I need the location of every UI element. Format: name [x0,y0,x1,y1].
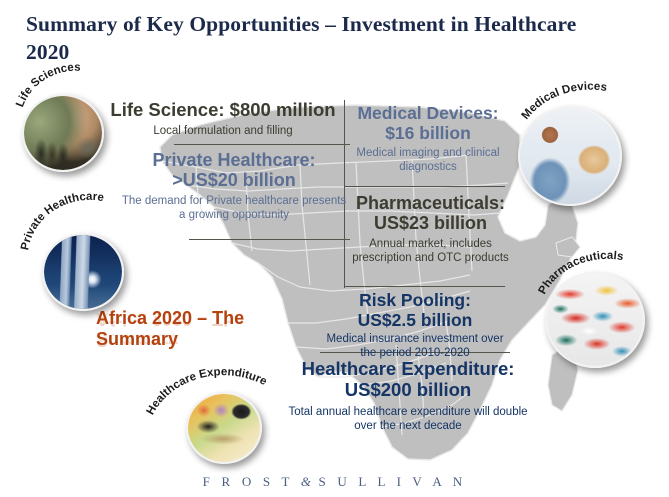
block-pharmaceuticals-heading-line2: US$23 billion [343,213,518,233]
block-medical-devices-heading-line1: Medical Devices: [343,104,513,124]
block-private-healthcare: Private Healthcare: >US$20 billion The d… [118,150,350,222]
private-healthcare-photo-detail [44,235,122,309]
block-medical-devices-subtext: Medical imaging and clinical diagnostics [343,147,513,174]
block-life-science-heading: Life Science: $800 million [96,100,350,121]
block-medical-devices-heading-line2: $16 billion [343,124,513,144]
block-risk-pooling-subtext: Medical insurance investment over the pe… [318,333,512,360]
block-life-science-subtext: Local formulation and filling [96,125,350,139]
divider-private-healthcare [189,239,350,240]
footer-brand: F R O S T & S U L L I V A N [0,474,669,490]
block-private-healthcare-subtext: The demand for Private healthcare presen… [118,195,350,222]
footer-frost: F R O S T [203,474,294,489]
africa-summary-line1: Africa 2020 – The [96,308,286,329]
africa-summary-line2: Summary [96,329,286,350]
pharmaceuticals-photo[interactable] [545,272,645,368]
medical-devices-photo[interactable] [518,106,622,206]
block-risk-pooling: Risk Pooling: US$2.5 billion Medical ins… [318,291,512,360]
medical-devices-photo-detail [520,108,620,204]
divider-pharmaceuticals [345,286,505,287]
block-life-science: Life Science: $800 million Local formula… [96,100,350,138]
block-healthcare-expenditure: Healthcare Expenditure: US$200 billion T… [283,359,533,434]
block-healthcare-expenditure-heading-line2: US$200 billion [283,380,533,401]
block-pharmaceuticals-subtext: Annual market, includes prescription and… [343,238,518,265]
block-pharmaceuticals-heading-line1: Pharmaceuticals: [343,193,518,213]
healthcare-expenditure-photo-detail [188,394,260,462]
footer-sullivan: S U L L I V A N [318,474,466,489]
healthcare-expenditure-photo[interactable] [186,392,262,464]
pharmaceuticals-photo-detail [547,274,643,366]
life-sciences-photo-detail [24,96,102,170]
divider-medical-devices [345,186,505,187]
block-pharmaceuticals: Pharmaceuticals: US$23 billion Annual ma… [343,193,518,265]
private-healthcare-photo[interactable] [42,233,124,311]
block-private-healthcare-heading-line2: >US$20 billion [118,170,350,190]
block-risk-pooling-heading-line1: Risk Pooling: [318,291,512,311]
block-private-healthcare-heading-line1: Private Healthcare: [118,150,350,170]
block-healthcare-expenditure-heading-line1: Healthcare Expenditure: [283,359,533,380]
africa-summary-text: Africa 2020 – The Africa 2020 – The Summ… [96,308,286,371]
slide-canvas: Summary of Key Opportunities – Investmen… [0,0,669,497]
life-sciences-photo[interactable] [22,94,104,172]
block-medical-devices: Medical Devices: $16 billion Medical ima… [343,104,513,174]
divider-life-science [174,144,350,145]
footer-ampersand-icon: & [301,474,311,489]
block-risk-pooling-heading-line2: US$2.5 billion [318,311,512,331]
block-healthcare-expenditure-subtext: Total annual healthcare expenditure will… [283,406,533,433]
